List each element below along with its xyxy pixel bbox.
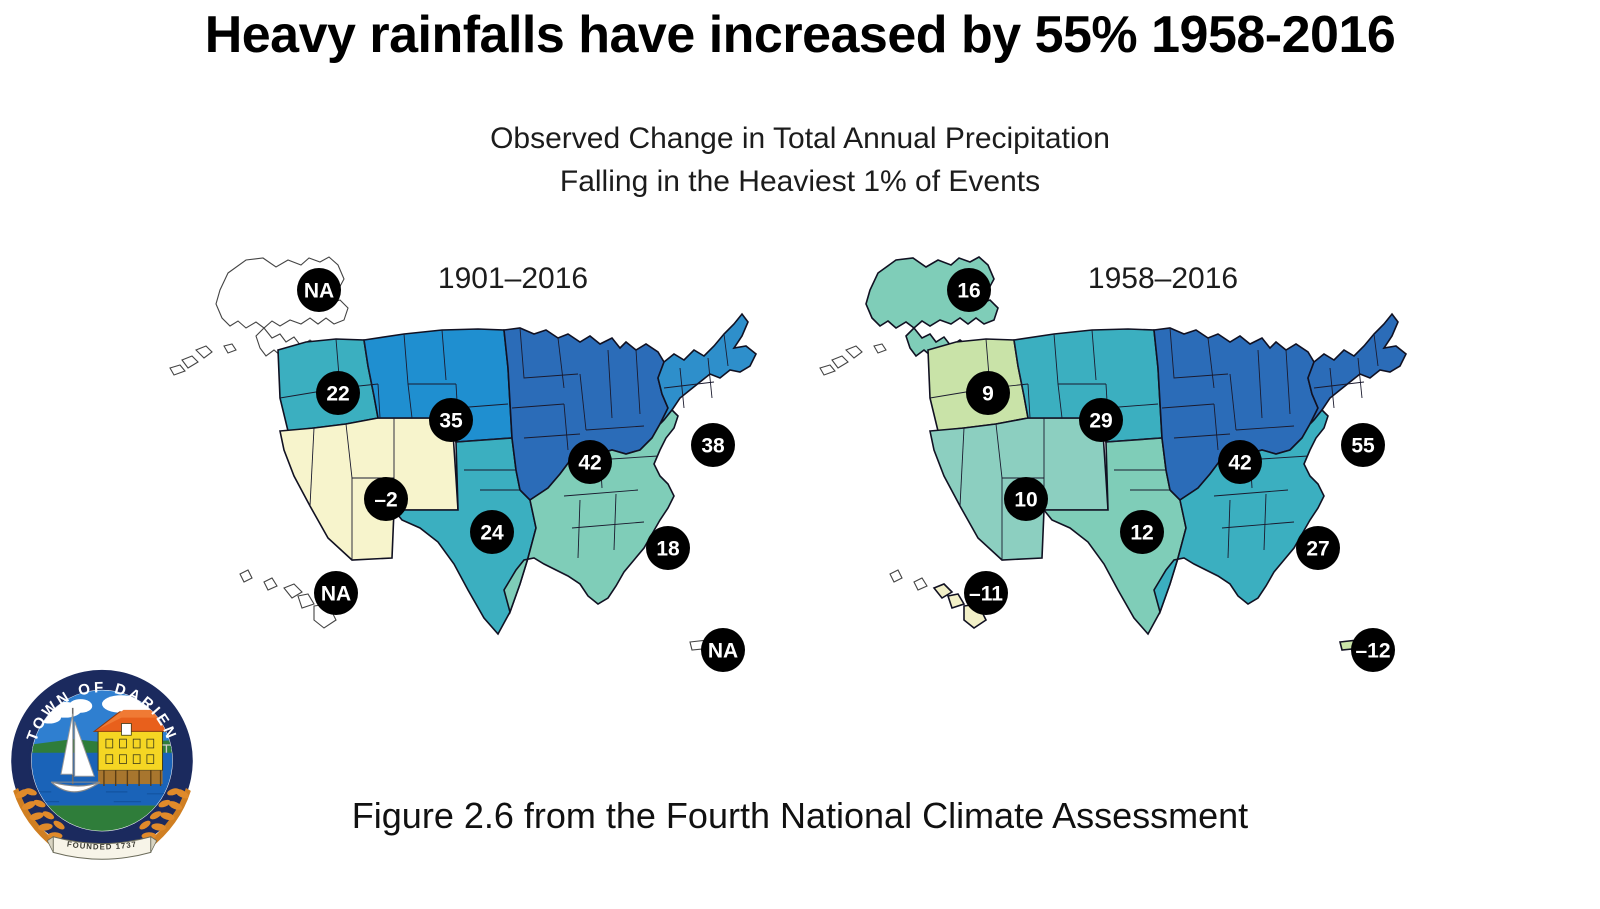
map-panel-1958-2016: 16 9 29 42 55 10 [818, 238, 1438, 680]
us-map-1901-2016: NA 22 35 42 38 –2 [168, 238, 788, 680]
value-marker-alaska[interactable]: NA [297, 268, 341, 312]
value-marker-northern-great-plains[interactable]: 29 [1079, 398, 1123, 442]
region-northeast [1308, 314, 1406, 424]
value-marker-southern-great-plains[interactable]: 12 [1120, 510, 1164, 554]
value-marker-caribbean[interactable]: NA [701, 628, 745, 672]
marker-label: NA [321, 583, 351, 606]
marker-label: 42 [578, 452, 601, 475]
marker-label: –12 [1355, 640, 1390, 663]
value-marker-southeast[interactable]: 18 [646, 526, 690, 570]
marker-label: 22 [326, 383, 349, 406]
marker-label: 9 [982, 383, 994, 406]
value-marker-northwest[interactable]: 9 [966, 371, 1010, 415]
value-marker-southeast[interactable]: 27 [1296, 526, 1340, 570]
figure-subtitle: Observed Change in Total Annual Precipit… [0, 118, 1600, 203]
marker-label: 29 [1089, 410, 1112, 433]
value-marker-caribbean[interactable]: –12 [1351, 628, 1395, 672]
marker-label: 16 [957, 280, 980, 303]
value-marker-hawaii[interactable]: NA [314, 571, 358, 615]
figure-caption: Figure 2.6 from the Fourth National Clim… [210, 795, 1390, 837]
value-marker-southern-great-plains[interactable]: 24 [470, 510, 514, 554]
marker-label: 38 [701, 435, 725, 458]
marker-label: –11 [969, 583, 1003, 606]
value-marker-northeast[interactable]: 38 [691, 423, 735, 467]
marker-label: 12 [1130, 522, 1153, 545]
value-marker-northeast[interactable]: 55 [1341, 423, 1385, 467]
marker-label: 42 [1228, 452, 1251, 475]
value-marker-northwest[interactable]: 22 [316, 371, 360, 415]
page-title: Heavy rainfalls have increased by 55% 19… [0, 6, 1600, 65]
value-marker-midwest[interactable]: 42 [568, 440, 612, 484]
marker-label: 35 [439, 410, 463, 433]
marker-label: –2 [374, 489, 397, 512]
marker-label: 18 [656, 538, 680, 561]
slide-canvas: Heavy rainfalls have increased by 55% 19… [0, 0, 1600, 909]
value-marker-southwest[interactable]: 10 [1004, 477, 1048, 521]
value-marker-hawaii[interactable]: –11 [964, 571, 1008, 615]
figure-subtitle-line-2: Falling in the Heaviest 1% of Events [0, 161, 1600, 204]
value-marker-southwest[interactable]: –2 [364, 477, 408, 521]
marker-label: 24 [480, 522, 504, 545]
value-marker-midwest[interactable]: 42 [1218, 440, 1262, 484]
figure-subtitle-line-1: Observed Change in Total Annual Precipit… [0, 118, 1600, 161]
town-of-darien-seal-logo: TOWN OF DARIEN [4, 663, 200, 868]
marker-label: NA [708, 640, 738, 663]
us-map-1958-2016: 16 9 29 42 55 10 [818, 238, 1438, 680]
marker-label: 55 [1351, 435, 1375, 458]
value-marker-northern-great-plains[interactable]: 35 [429, 398, 473, 442]
marker-label: NA [304, 280, 334, 303]
map-panel-1901-2016: NA 22 35 42 38 –2 [168, 238, 788, 680]
value-marker-alaska[interactable]: 16 [947, 268, 991, 312]
marker-label: 27 [1306, 538, 1329, 561]
marker-label: 10 [1014, 489, 1037, 512]
region-northeast [658, 314, 756, 424]
